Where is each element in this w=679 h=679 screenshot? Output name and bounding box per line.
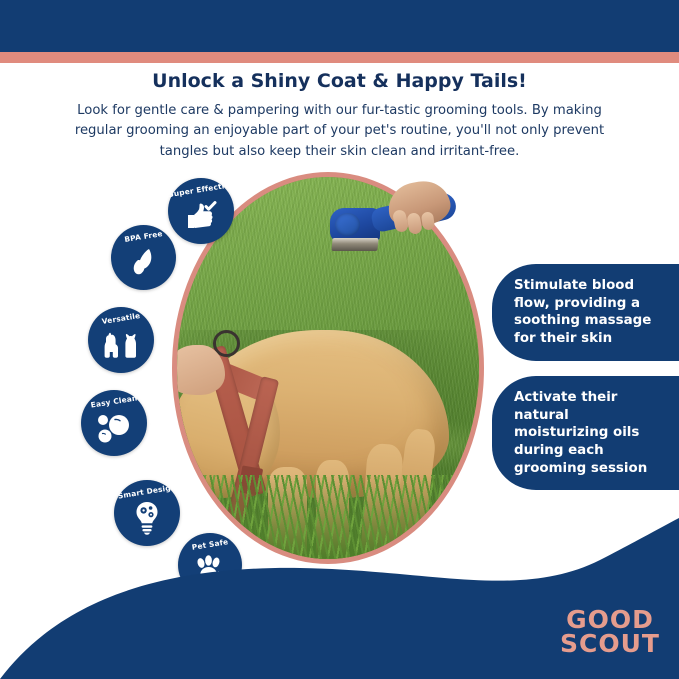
- paw-check-icon: [178, 550, 242, 590]
- infographic-page: PAW-FECT PAMPERING Unlock a Shiny Coat &…: [0, 0, 679, 679]
- intro-block: Unlock a Shiny Coat & Happy Tails! Look …: [0, 70, 679, 162]
- intro-heading: Unlock a Shiny Coat & Happy Tails!: [0, 70, 679, 92]
- badge-easy-clean: Easy Clean: [81, 390, 147, 456]
- brush-dial: [335, 213, 360, 236]
- lightbulb-gears-icon: [114, 497, 180, 538]
- bubbles-icon: [81, 407, 147, 448]
- badge-bpa-free: BPA Free: [111, 225, 176, 290]
- leaf-icon: [111, 242, 176, 282]
- badge-pet-safe: Pet Safe: [178, 533, 242, 597]
- logo-line-scout: SCOUT: [560, 632, 660, 656]
- header-band: [0, 0, 679, 52]
- header-accent-stripe: [0, 52, 679, 63]
- callout-blood-flow: Stimulate blood flow, providing a soothi…: [492, 264, 679, 361]
- brush-teeth: [331, 238, 378, 251]
- badge-super-effective: Super Effective: [168, 178, 234, 244]
- badge-smart-design: Smart Design: [114, 480, 180, 546]
- badge-versatile: Versatile: [88, 307, 154, 373]
- dog-cat-icon: [88, 324, 154, 365]
- grooming-brush: [330, 186, 470, 266]
- intro-body: Look for gentle care & pampering with ou…: [0, 101, 679, 162]
- thumbs-up-check-icon: [168, 195, 234, 236]
- brand-logo: GOOD SCOUT: [560, 608, 660, 656]
- callout-moisturizing: Activate their natural moisturizing oils…: [492, 376, 679, 490]
